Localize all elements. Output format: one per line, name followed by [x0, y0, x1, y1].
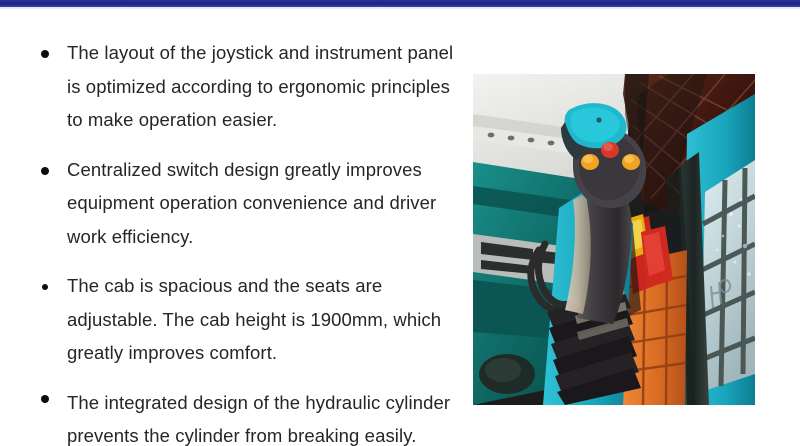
bullet-dot-icon [41, 167, 49, 175]
joystick-photo [473, 74, 755, 405]
accent-top-rule [0, 0, 800, 7]
slide-root: The layout of the joystick and instrumen… [0, 0, 800, 446]
list-item: The layout of the joystick and instrumen… [0, 36, 470, 137]
list-item: Centralized switch design greatly improv… [0, 153, 470, 254]
bullet-text: The cab is spacious and the seats are ad… [67, 269, 464, 370]
accent-rule-shadow [0, 7, 800, 9]
joystick-photo-canvas [473, 74, 755, 405]
bullet-dot-icon [42, 284, 48, 290]
bullet-list: The layout of the joystick and instrumen… [0, 36, 470, 446]
list-item: The integrated design of the hydraulic c… [0, 386, 470, 446]
joystick-photo-illustration [473, 74, 755, 405]
bullet-text: Centralized switch design greatly improv… [67, 153, 464, 254]
bullet-text: The integrated design of the hydraulic c… [67, 386, 464, 446]
bullet-dot-icon [41, 395, 49, 403]
list-item: The cab is spacious and the seats are ad… [0, 269, 470, 370]
bullet-dot-icon [41, 50, 49, 58]
bullet-text: The layout of the joystick and instrumen… [67, 36, 464, 137]
